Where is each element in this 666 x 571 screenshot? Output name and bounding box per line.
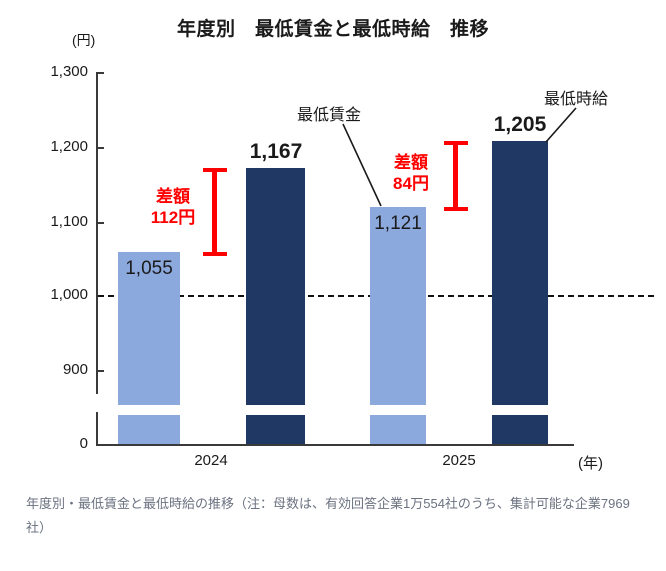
chart-footnote: 年度別・最低賃金と最低時給の推移（注：母数は、有効回答企業1万554社のうち、集… — [26, 492, 642, 540]
chart-container: 年度別 最低賃金と最低時給 推移 (円) (年) 1,300 1,200 1,1… — [0, 0, 666, 571]
callout-leader-minimum-hourly — [0, 0, 666, 571]
